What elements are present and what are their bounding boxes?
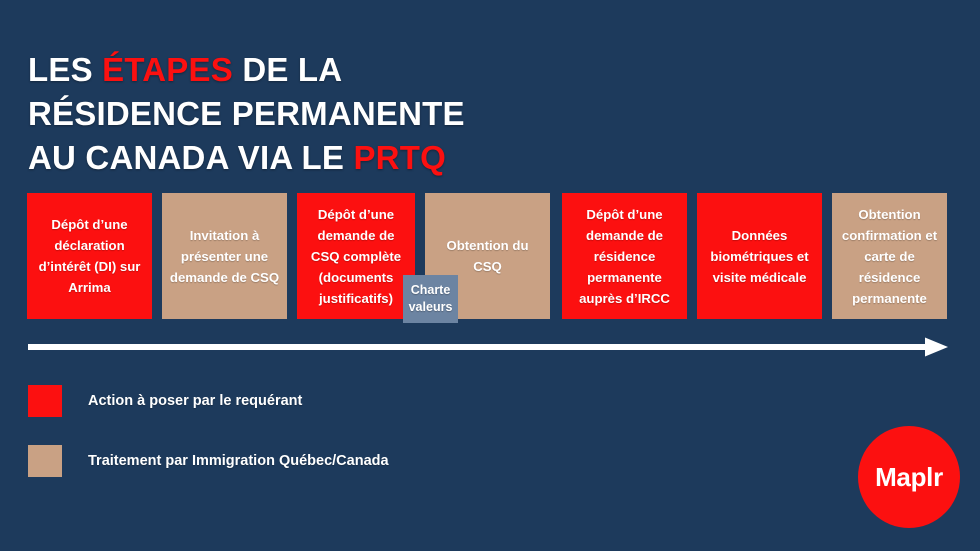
step-label-1: Dépôt d’une déclaration d’intérêt (DI) s… — [33, 214, 146, 298]
infographic-canvas: LES ÉTAPES DE LA RÉSIDENCE PERMANENTE AU… — [0, 0, 980, 551]
title-line-3: AU CANADA VIA LE PRTQ — [28, 136, 668, 180]
title-accent-prtq: PRTQ — [353, 139, 445, 176]
step-box-6: Données biométriques et visite médicale — [697, 193, 822, 319]
step-box-2: Invitation à présenter une demande de CS… — [162, 193, 287, 319]
step-label-3: Dépôt d’une demande de CSQ complète (doc… — [303, 204, 409, 309]
legend-swatch-red — [28, 385, 62, 417]
legend-row-applicant: Action à poser par le requérant — [28, 385, 389, 417]
maplr-logo: Maplr — [858, 426, 960, 528]
page-title: LES ÉTAPES DE LA RÉSIDENCE PERMANENTE AU… — [28, 48, 668, 180]
title-accent-etapes: ÉTAPES — [102, 51, 233, 88]
step-box-3: Dépôt d’une demande de CSQ complète (doc… — [297, 193, 415, 319]
title-line-2: RÉSIDENCE PERMANENTE — [28, 92, 668, 136]
steps-timeline: Dépôt d’une déclaration d’intérêt (DI) s… — [27, 193, 947, 319]
right-arrow-icon — [28, 336, 948, 358]
timeline-arrow — [28, 336, 948, 358]
title-line-1: LES ÉTAPES DE LA — [28, 48, 668, 92]
title-line-1-part-2: DE LA — [233, 51, 342, 88]
maplr-logo-text: Maplr — [875, 462, 943, 493]
step-label-2: Invitation à présenter une demande de CS… — [168, 225, 281, 288]
step-box-5: Dépôt d’une demande de résidence permane… — [562, 193, 687, 319]
step-box-7: Obtention confirmation et carte de résid… — [832, 193, 947, 319]
title-line-3-part-1: AU CANADA VIA LE — [28, 139, 353, 176]
step-label-6: Données biométriques et visite médicale — [703, 225, 816, 288]
legend-label-applicant: Action à poser par le requérant — [88, 393, 302, 409]
legend-label-government: Traitement par Immigration Québec/Canada — [88, 453, 389, 469]
title-line-1-part-1: LES — [28, 51, 102, 88]
charte-valeurs-line-2: valeurs — [409, 299, 453, 316]
step-label-7: Obtention confirmation et carte de résid… — [838, 204, 941, 309]
step-label-4: Obtention du CSQ — [431, 235, 544, 277]
legend: Action à poser par le requérant Traiteme… — [28, 385, 389, 477]
charte-valeurs-callout: Charte valeurs — [403, 275, 458, 323]
legend-swatch-tan — [28, 445, 62, 477]
charte-valeurs-line-1: Charte — [411, 282, 451, 299]
step-box-1: Dépôt d’une déclaration d’intérêt (DI) s… — [27, 193, 152, 319]
legend-row-government: Traitement par Immigration Québec/Canada — [28, 445, 389, 477]
step-label-5: Dépôt d’une demande de résidence permane… — [568, 204, 681, 309]
